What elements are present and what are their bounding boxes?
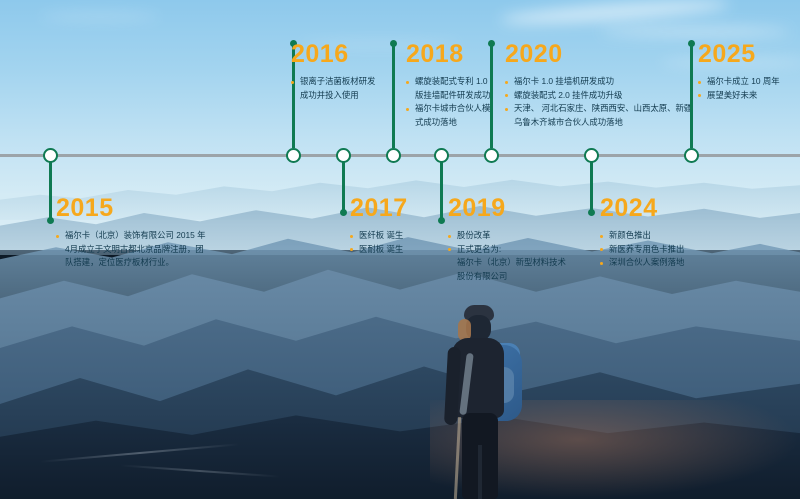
event-bullet-list-2019: 股份改革正式更名为:福尔卡（北京）新型材料技术股份有限公司 <box>448 229 566 283</box>
event-year-2024: 2024 <box>600 196 684 221</box>
event-bullet-line: 银离子洁菌板材研发 <box>291 75 375 89</box>
timeline-node-2016[interactable] <box>286 148 301 163</box>
timeline-event-2025[interactable]: 2025福尔卡成立 10 周年展望美好未来 <box>698 42 780 102</box>
event-bullet-line: 新颜色推出 <box>600 229 684 243</box>
timeline-stem-cap-2017 <box>340 209 347 216</box>
timeline-stem-2025 <box>690 43 693 148</box>
hiker-figure <box>430 305 540 499</box>
timeline-event-2015[interactable]: 2015福尔卡（北京）装饰有限公司 2015 年4月成立于文明古都北京品牌注册，… <box>56 196 206 270</box>
event-year-2016: 2016 <box>291 42 375 67</box>
event-bullet-line: 4月成立于文明古都北京品牌注册，团 <box>56 243 206 257</box>
timeline-event-2024[interactable]: 2024新颜色推出新医养专用色卡推出深圳合伙人案例落地 <box>600 196 684 270</box>
event-bullet-line: 螺旋装配式 2.0 挂件成功升级 <box>505 89 692 103</box>
event-bullet-line: 天津、 河北石家庄、陕西西安、山西太原、新疆 <box>505 102 692 116</box>
timeline-node-2018[interactable] <box>386 148 401 163</box>
timeline-event-2019[interactable]: 2019股份改革正式更名为:福尔卡（北京）新型材料技术股份有限公司 <box>448 196 566 283</box>
event-bullet-line: 福尔卡 1.0 挂墙机研发成功 <box>505 75 692 89</box>
infographic-stage: 2015福尔卡（北京）装饰有限公司 2015 年4月成立于文明古都北京品牌注册，… <box>0 0 800 499</box>
timeline-node-2017[interactable] <box>336 148 351 163</box>
trekking-pole <box>454 417 461 499</box>
timeline-stem-2020 <box>490 43 493 148</box>
event-bullet-line: 式成功落地 <box>406 116 490 130</box>
event-bullet-list-2016: 银离子洁菌板材研发成功并投入使用 <box>291 75 375 102</box>
timeline-event-2018[interactable]: 2018螺旋装配式专利 1.0版挂墙配件研发成功福尔卡城市合伙人模式成功落地 <box>406 42 490 129</box>
event-bullet-line: 股份有限公司 <box>448 270 566 284</box>
event-year-2015: 2015 <box>56 196 206 221</box>
event-bullet-line: 福尔卡（北京）新型材料技术 <box>448 256 566 270</box>
event-year-2020: 2020 <box>505 42 692 67</box>
cloud <box>40 12 160 21</box>
event-bullet-list-2024: 新颜色推出新医养专用色卡推出深圳合伙人案例落地 <box>600 229 684 270</box>
timeline-node-2015[interactable] <box>43 148 58 163</box>
event-bullet-line: 福尔卡（北京）装饰有限公司 2015 年 <box>56 229 206 243</box>
event-bullet-list-2015: 福尔卡（北京）装饰有限公司 2015 年4月成立于文明古都北京品牌注册，团队搭建… <box>56 229 206 270</box>
event-bullet-line: 股份改革 <box>448 229 566 243</box>
event-bullet-line: 队搭建，定位医疗板材行业。 <box>56 256 206 270</box>
event-year-2018: 2018 <box>406 42 490 67</box>
event-bullet-list-2025: 福尔卡成立 10 周年展望美好未来 <box>698 75 780 102</box>
event-bullet-line: 福尔卡成立 10 周年 <box>698 75 780 89</box>
event-year-2017: 2017 <box>350 196 408 221</box>
timeline-stem-2019 <box>440 162 443 220</box>
event-bullet-line: 版挂墙配件研发成功 <box>406 89 490 103</box>
timeline-event-2016[interactable]: 2016银离子洁菌板材研发成功并投入使用 <box>291 42 375 102</box>
timeline-stem-2024 <box>590 162 593 212</box>
event-year-2019: 2019 <box>448 196 566 221</box>
timeline-node-2024[interactable] <box>584 148 599 163</box>
event-bullet-line: 医耐板 诞生 <box>350 243 408 257</box>
timeline-node-2020[interactable] <box>484 148 499 163</box>
timeline-node-2025[interactable] <box>684 148 699 163</box>
event-bullet-list-2017: 医纤板 诞生医耐板 诞生 <box>350 229 408 256</box>
timeline-event-2020[interactable]: 2020福尔卡 1.0 挂墙机研发成功螺旋装配式 2.0 挂件成功升级天津、 河… <box>505 42 692 129</box>
timeline-stem-cap-2024 <box>588 209 595 216</box>
timeline-stem-2015 <box>49 162 52 220</box>
event-bullet-line: 螺旋装配式专利 1.0 <box>406 75 490 89</box>
event-bullet-line: 展望美好未来 <box>698 89 780 103</box>
timeline-stem-cap-2018 <box>390 40 397 47</box>
event-bullet-list-2018: 螺旋装配式专利 1.0版挂墙配件研发成功福尔卡城市合伙人模式成功落地 <box>406 75 490 129</box>
timeline-stem-cap-2020 <box>488 40 495 47</box>
timeline-node-2019[interactable] <box>434 148 449 163</box>
timeline-stem-cap-2015 <box>47 217 54 224</box>
event-bullet-line: 乌鲁木齐城市合伙人成功落地 <box>505 116 692 130</box>
event-year-2025: 2025 <box>698 42 780 67</box>
cloud <box>600 26 790 37</box>
timeline-stem-cap-2025 <box>688 40 695 47</box>
timeline-event-2017[interactable]: 2017医纤板 诞生医耐板 诞生 <box>350 196 408 256</box>
timeline-stem-2017 <box>342 162 345 212</box>
timeline-stem-2018 <box>392 43 395 148</box>
event-bullet-line: 正式更名为: <box>448 243 566 257</box>
event-bullet-line: 新医养专用色卡推出 <box>600 243 684 257</box>
event-bullet-line: 医纤板 诞生 <box>350 229 408 243</box>
hiker-leg-gap <box>478 445 482 499</box>
timeline-stem-cap-2019 <box>438 217 445 224</box>
event-bullet-list-2020: 福尔卡 1.0 挂墙机研发成功螺旋装配式 2.0 挂件成功升级天津、 河北石家庄… <box>505 75 692 129</box>
event-bullet-line: 福尔卡城市合伙人模 <box>406 102 490 116</box>
event-bullet-line: 深圳合伙人案例落地 <box>600 256 684 270</box>
event-bullet-line: 成功并投入使用 <box>291 89 375 103</box>
